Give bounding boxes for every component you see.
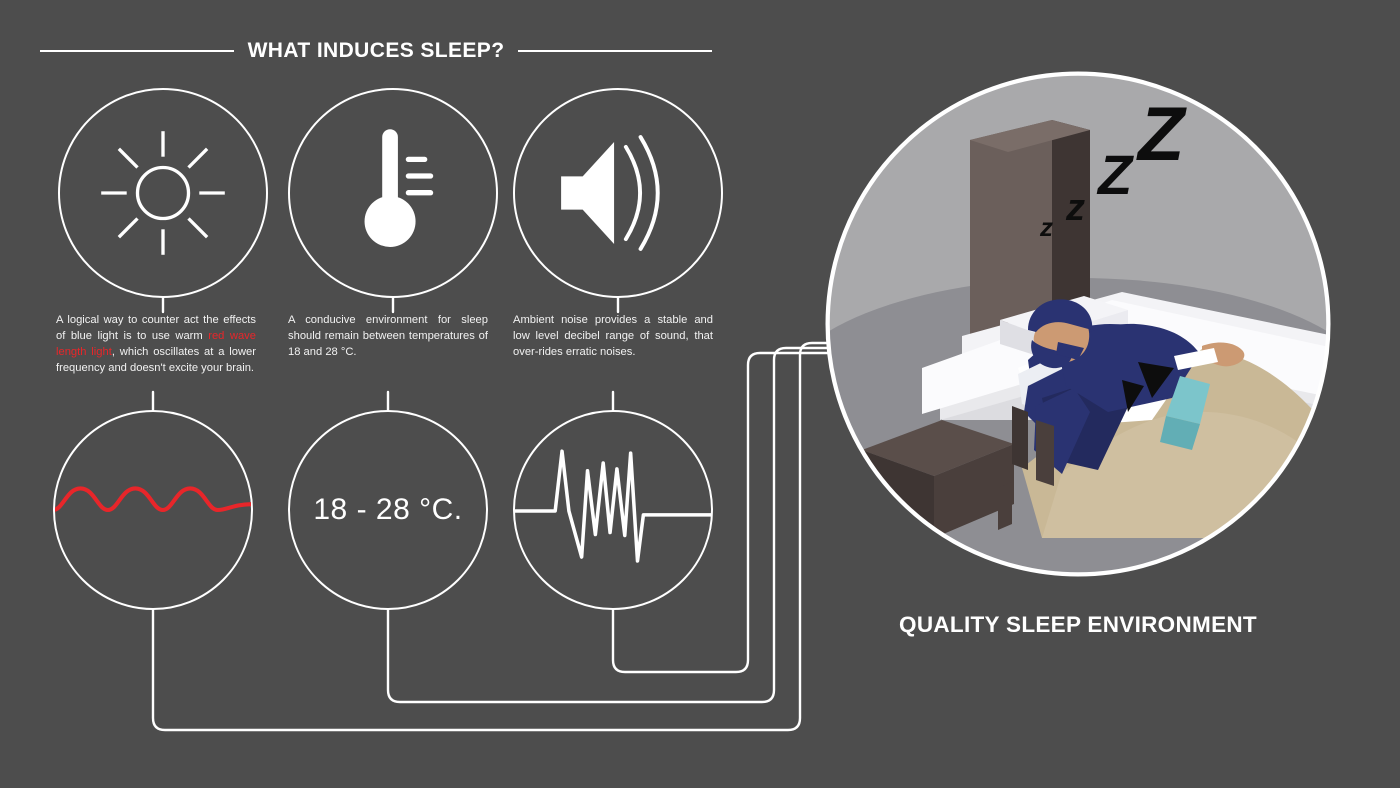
value-circle-erratic-noise[interactable] — [513, 410, 713, 610]
temperature-value-label: 18 - 28 °C. — [290, 412, 486, 608]
bed-leg-2 — [1012, 406, 1028, 470]
paragraph-temperature-text: A conducive environment for sleep should… — [288, 314, 488, 358]
icon-circle-noise[interactable] — [513, 88, 723, 298]
nightstand-leg-1 — [868, 514, 884, 568]
paragraph-noise: Ambient noise provides a stable and low … — [513, 313, 713, 361]
icon-circle-light[interactable] — [58, 88, 268, 298]
paragraph-light: A logical way to counter act the effects… — [56, 313, 256, 377]
page-title: WHAT INDUCES SLEEP? — [248, 39, 505, 63]
sleep-letter-2: z — [1065, 187, 1085, 229]
sleep-letter-3: Z — [1096, 143, 1134, 206]
thermometer-icon — [290, 90, 496, 296]
illustration-caption: QUALITY SLEEP ENVIRONMENT — [822, 612, 1334, 638]
sleep-letter-1: z — [1039, 212, 1053, 242]
icon-circle-temperature[interactable] — [288, 88, 498, 298]
erratic-waveform-icon — [515, 412, 711, 608]
bed-leg-1 — [1036, 420, 1054, 486]
illustration-sleeping-person: z z Z Z — [822, 68, 1334, 580]
sleep-letter-4: Z — [1136, 92, 1187, 177]
nightstand-leg-2 — [922, 532, 938, 580]
nightstand-leg-3 — [998, 482, 1012, 530]
value-circle-temperature[interactable]: 18 - 28 °C. — [288, 410, 488, 610]
sun-icon — [60, 90, 266, 296]
header-rule-left — [40, 50, 234, 52]
value-circle-red-wave[interactable] — [53, 410, 253, 610]
header-rule-right — [518, 50, 712, 52]
speaker-icon — [515, 90, 721, 296]
bedroom-scene: z z Z Z — [822, 68, 1334, 580]
paragraph-temperature: A conducive environment for sleep should… — [288, 313, 488, 361]
header: WHAT INDUCES SLEEP? — [40, 34, 712, 68]
connector-path-light — [153, 343, 836, 730]
paragraph-noise-text: Ambient noise provides a stable and low … — [513, 314, 713, 358]
infographic-canvas: WHAT INDUCES SLEEP? — [0, 0, 1400, 788]
red-sine-wave-icon — [55, 412, 251, 608]
